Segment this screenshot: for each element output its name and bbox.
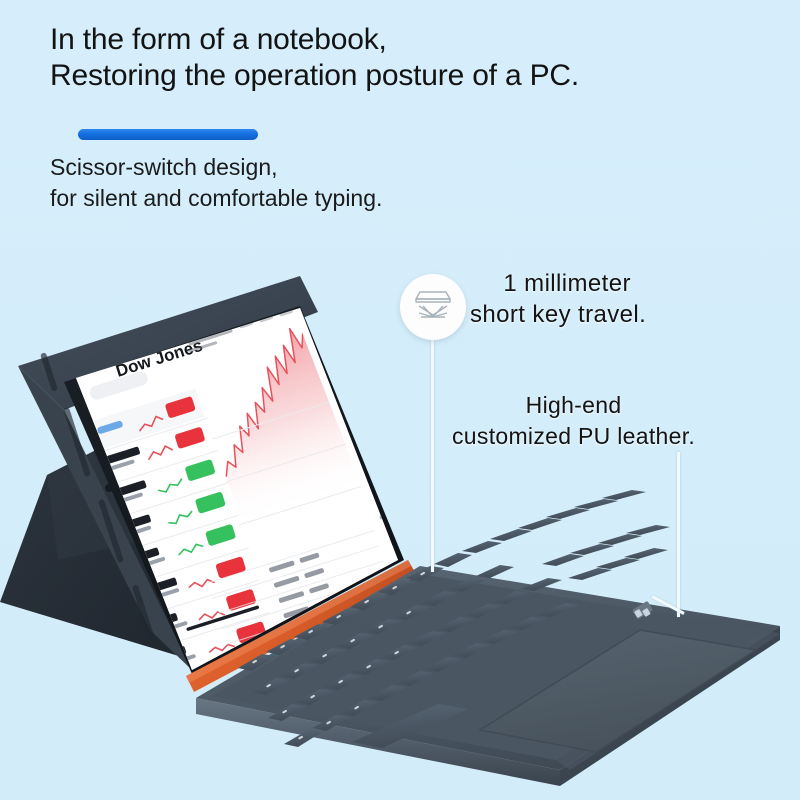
callout-key-travel-line-2: short key travel. — [470, 299, 646, 330]
headline-line-2: Restoring the operation posture of a PC. — [50, 58, 770, 94]
callout-key-travel-line-1: 1 millimeter — [470, 268, 646, 299]
accent-divider-bar — [78, 129, 258, 140]
tablet-keyboard-case-illustration: Dow Jones — [0, 230, 800, 800]
page-subtitle: Scissor-switch design, for silent and co… — [50, 152, 670, 214]
callout-pu-leather-line-2: customized PU leather. — [452, 421, 695, 452]
callout-pu-leather-line-1: High-end — [452, 390, 695, 421]
headline-line-1: In the form of a notebook, — [50, 23, 387, 56]
product-banner: In the form of a notebook, Restoring the… — [0, 0, 800, 800]
subhead-line-1: Scissor-switch design, — [50, 154, 278, 180]
tablet-app-title-text: Dow Jones — [0, 0, 1, 1]
page-title: In the form of a notebook, Restoring the… — [50, 22, 770, 94]
callout-key-travel: 1 millimeter short key travel. — [470, 268, 646, 330]
callout-pu-leather: High-end customized PU leather. — [452, 390, 695, 452]
leader-line-pu-leather — [677, 452, 680, 617]
scissor-switch-keycap-icon — [400, 274, 466, 340]
leader-line-key-travel — [431, 340, 434, 572]
subhead-line-2: for silent and comfortable typing. — [50, 183, 670, 214]
